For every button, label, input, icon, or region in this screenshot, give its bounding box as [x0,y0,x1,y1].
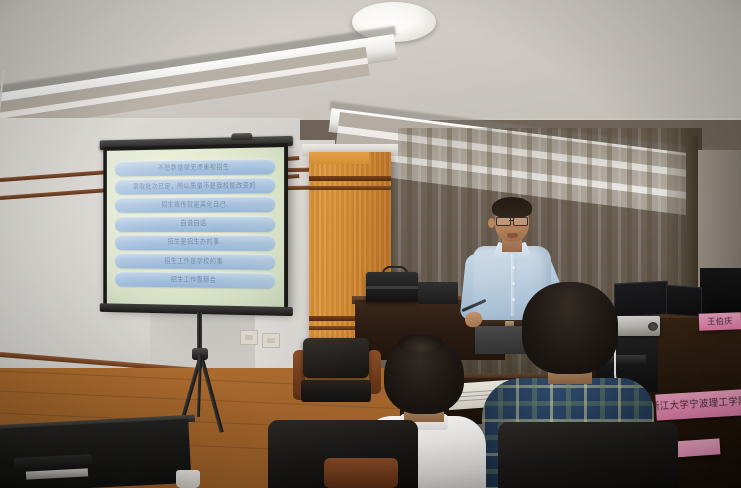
slide-line-text: 招生是招生办的事 [168,239,220,246]
laptop-secondary[interactable] [666,285,702,318]
wall-outlet-a [240,330,258,345]
presenter-mouth [507,233,518,238]
glasses-icon [495,217,528,224]
wall-outlet-b [262,333,280,348]
conference-room-photo: 不愁数量就无须重视招生 录取批次已定，所以质量不是我校能改变的 招生宣传就是美化… [0,0,741,488]
screen-case-knob [231,133,252,140]
presenter-ear [488,218,495,228]
chair-arm [324,458,398,488]
slide-bar: 自说自话 [115,216,276,232]
slide-line-text: 招生工作靠那会 [171,276,216,283]
slide-line-text: 录取批次已定，所以质量不是我校能改变的 [133,182,256,190]
slide-line-text: 招生工作是学校的事 [164,258,222,265]
slide-bar: 录取批次已定，所以质量不是我校能改变的 [115,177,276,194]
slide-line-text: 自说自话 [180,220,206,226]
foreground-chair-right [498,422,678,488]
name-card-extra [672,438,721,457]
monitor[interactable] [700,268,741,314]
empty-chair [293,336,381,402]
column-top-face [309,152,369,164]
presenter-hair [492,197,532,218]
foreground-cup [176,470,200,488]
name-card-top-text: 王伯庆 [707,317,733,326]
slide-bar: 招生宣传就是美化自己 [115,196,276,213]
chair-backrest [498,422,678,488]
slide-bar: 招生工作是学校的事 [115,253,276,270]
slide-line-text: 招生宣传就是美化自己 [161,202,226,209]
name-card-bottom: 浙江大学宁波理工学院 [655,389,741,420]
name-card-bottom-text: 浙江大学宁波理工学院 [655,397,741,412]
chair-seat [301,380,371,402]
bag-stripe [366,286,418,289]
chair-backrest [303,338,369,378]
column-trim-band-upper-2 [309,186,391,190]
back-equipment-box [418,282,458,304]
column-trim-band-upper [309,176,391,181]
attendee-head [522,282,618,374]
attendee-hair [398,334,444,354]
slide-line-text: 不愁数量就无须重视招生 [158,164,229,172]
projection-screen[interactable]: 不愁数量就无须重视招生 录取批次已定，所以质量不是我校能改变的 招生宣传就是美化… [103,143,288,315]
slide-bar: 不愁数量就无须重视招生 [115,158,276,176]
foreground-chair-left [268,420,418,488]
name-card-top: 王伯庆 [699,312,741,330]
screen-surface: 不愁数量就无须重视招生 录取批次已定，所以质量不是我校能改变的 招生宣传就是美化… [107,147,284,307]
slide-bullet-list: 不愁数量就无须重视招生 录取批次已定，所以质量不是我校能改变的 招生宣传就是美化… [115,158,276,289]
slide-bar: 招生是招生办的事 [115,234,276,250]
slide-bar: 招生工作靠那会 [115,271,276,289]
